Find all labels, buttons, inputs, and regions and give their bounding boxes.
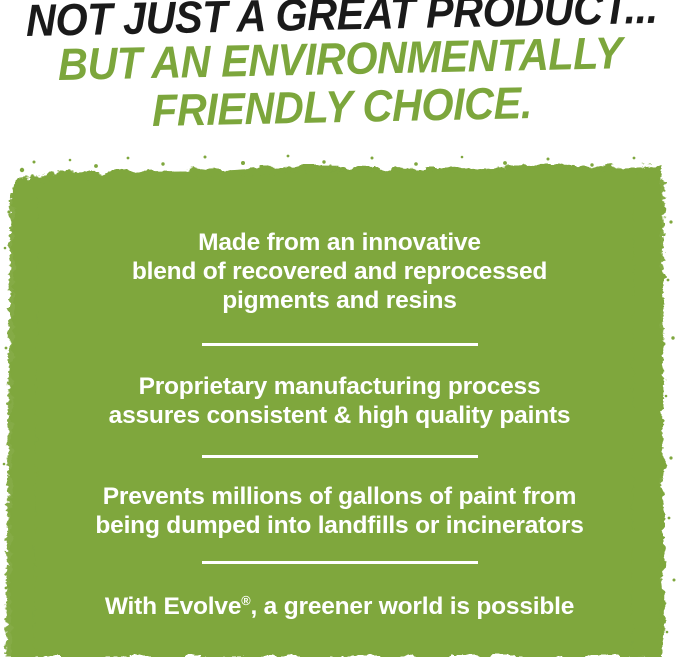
benefit-item-1: Made from an innovative blend of recover…	[0, 228, 679, 315]
divider-3	[202, 561, 478, 564]
headline-line-2: BUT AN ENVIRONMENTALLY	[58, 30, 623, 87]
headline-block: NOT JUST A GREAT PRODUCT... BUT AN ENVIR…	[0, 0, 679, 150]
brand-text-before: With Evolve	[105, 593, 241, 620]
divider-2	[202, 455, 478, 458]
benefit-1-line-3: pigments and resins	[0, 286, 679, 315]
benefit-item-4: With Evolve®, a greener world is possibl…	[0, 592, 679, 621]
benefit-4-line-1: With Evolve®, a greener world is possibl…	[0, 592, 679, 621]
promo-graphic: NOT JUST A GREAT PRODUCT... BUT AN ENVIR…	[0, 0, 679, 657]
divider-1	[202, 343, 478, 346]
headline-line-3: FRIENDLY CHOICE.	[152, 80, 533, 133]
benefit-3-line-2: being dumped into landfills or incinerat…	[0, 511, 679, 540]
brand-text-after: , a greener world is possible	[250, 593, 574, 620]
benefit-item-3: Prevents millions of gallons of paint fr…	[0, 482, 679, 540]
benefit-1-line-2: blend of recovered and reprocessed	[0, 257, 679, 286]
panel-content: Made from an innovative blend of recover…	[0, 152, 679, 657]
green-panel: Made from an innovative blend of recover…	[0, 152, 679, 657]
benefit-2-line-1: Proprietary manufacturing process	[0, 372, 679, 401]
benefit-item-2: Proprietary manufacturing process assure…	[0, 372, 679, 430]
benefit-1-line-1: Made from an innovative	[0, 228, 679, 257]
benefit-3-line-1: Prevents millions of gallons of paint fr…	[0, 482, 679, 511]
benefit-2-line-2: assures consistent & high quality paints	[0, 401, 679, 430]
